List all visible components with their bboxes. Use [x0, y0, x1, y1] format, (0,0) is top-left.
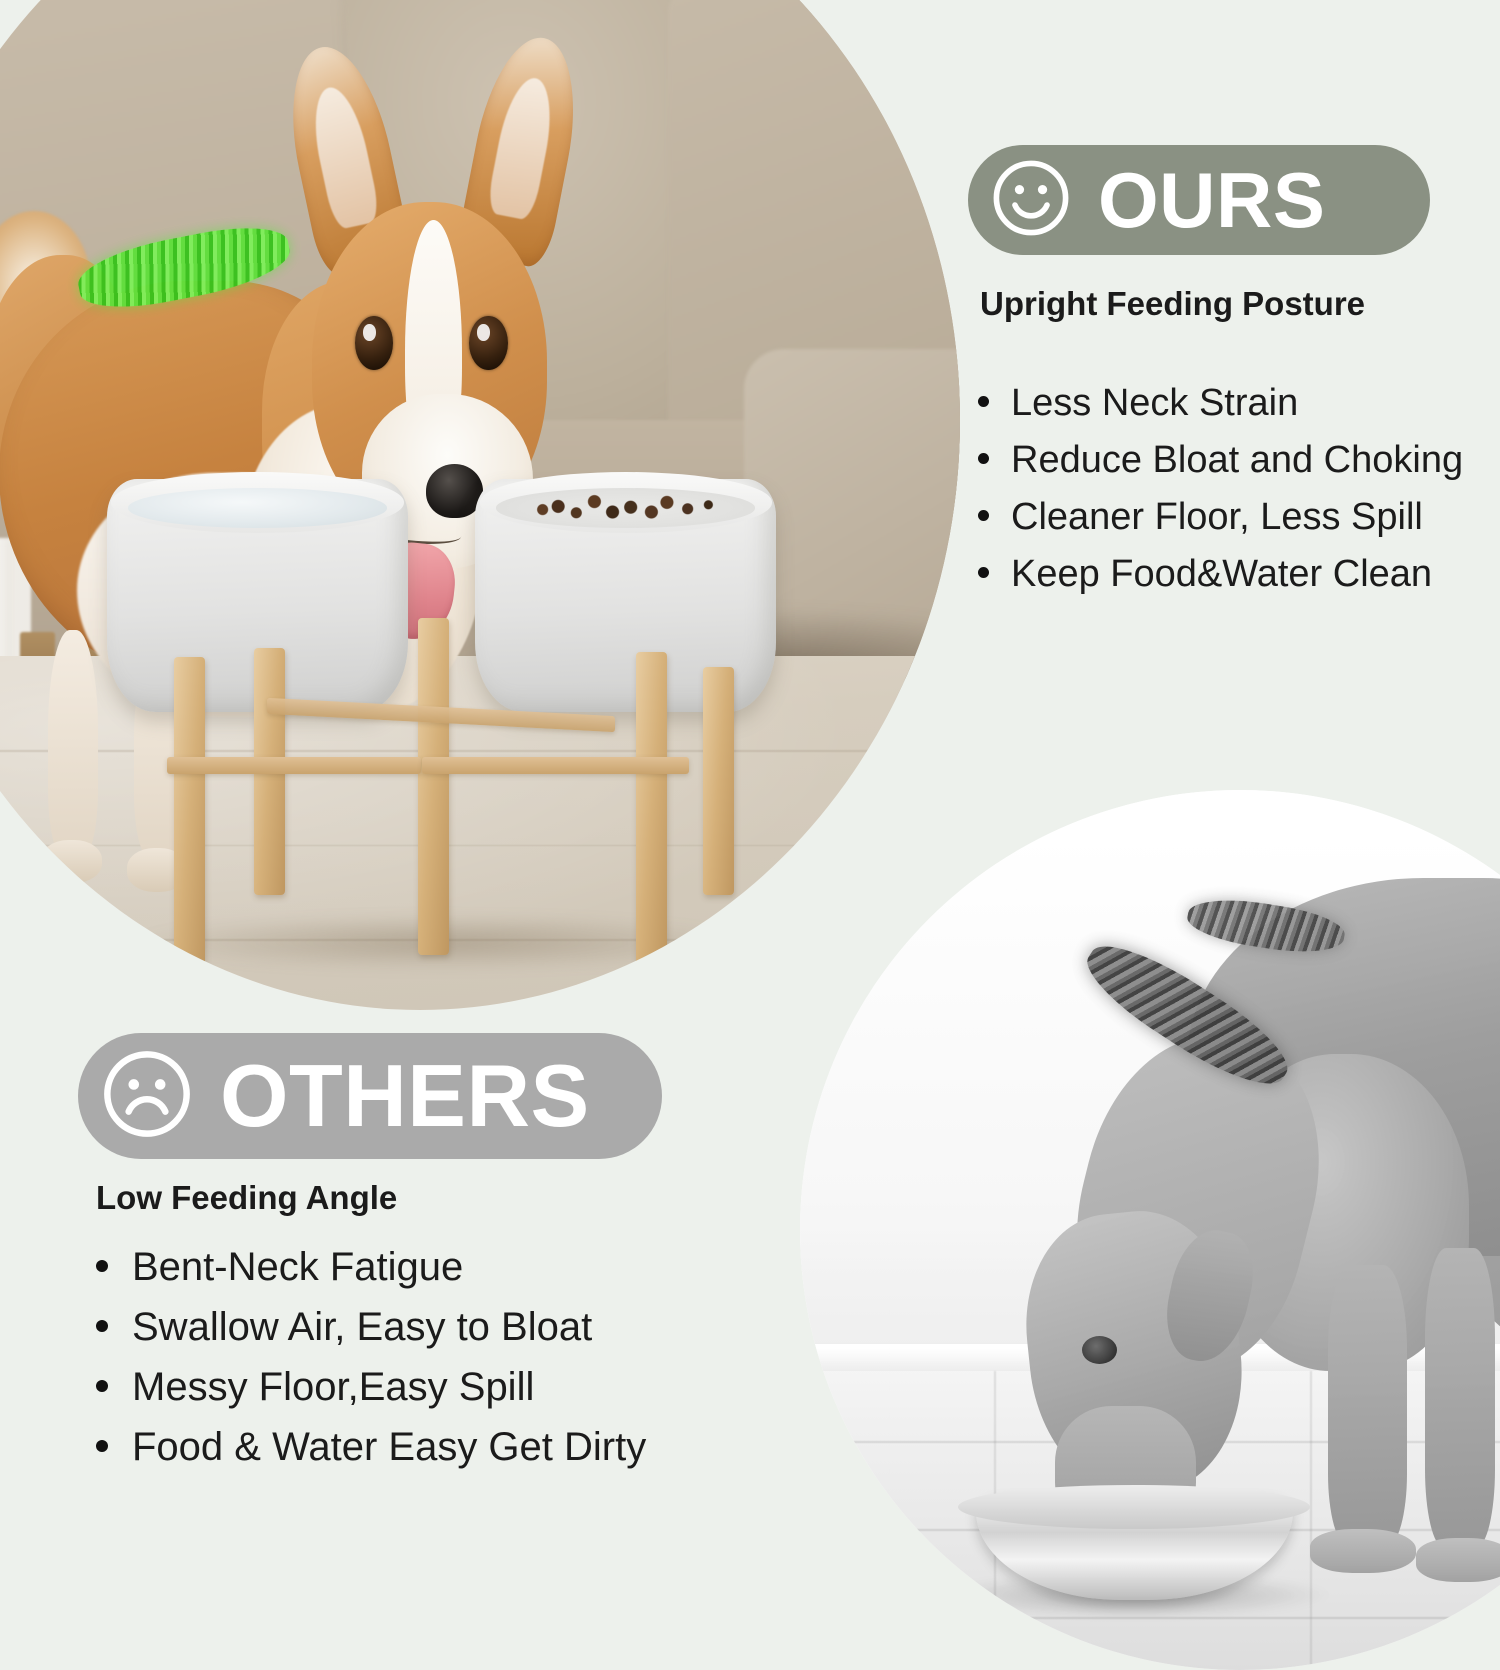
list-item-label: Swallow Air, Easy to Bloat	[132, 1305, 592, 1350]
list-item: Food & Water Easy Get Dirty	[96, 1425, 646, 1485]
smiley-face-icon	[990, 157, 1072, 244]
elevated-bowl-stand	[107, 479, 777, 975]
others-subheading: Low Feeding Angle	[96, 1179, 397, 1217]
others-drawback-list: Bent-Neck Fatigue Swallow Air, Easy to B…	[96, 1245, 646, 1485]
list-item: Less Neck Strain	[978, 382, 1463, 439]
list-item-label: Less Neck Strain	[1011, 382, 1298, 425]
list-item-label: Bent-Neck Fatigue	[132, 1245, 463, 1290]
dog-bent-over-floor-bowl-photo	[800, 790, 1500, 1670]
list-item: Messy Floor,Easy Spill	[96, 1365, 646, 1425]
dog-eye-left	[355, 316, 393, 370]
list-item: Bent-Neck Fatigue	[96, 1245, 646, 1305]
stand-leg	[636, 652, 667, 964]
list-item: Keep Food&Water Clean	[978, 553, 1463, 610]
frowning-face-icon	[100, 1047, 194, 1146]
dog-eye-right	[469, 316, 507, 370]
list-item-label: Food & Water Easy Get Dirty	[132, 1425, 646, 1470]
stand-leg	[703, 667, 734, 895]
ours-benefit-list: Less Neck Strain Reduce Bloat and Chokin…	[978, 382, 1463, 610]
list-item: Reduce Bloat and Choking	[978, 439, 1463, 496]
bullet-dot-icon	[96, 1380, 108, 1392]
stand-leg	[418, 618, 449, 955]
list-item: Swallow Air, Easy to Bloat	[96, 1305, 646, 1365]
bullet-dot-icon	[978, 453, 989, 464]
bullet-dot-icon	[978, 396, 989, 407]
others-badge: OTHERS	[78, 1033, 662, 1159]
bowl-water-contents	[128, 488, 387, 528]
list-item-label: Messy Floor,Easy Spill	[132, 1365, 534, 1410]
ours-subheading: Upright Feeding Posture	[980, 285, 1365, 323]
list-item-label: Reduce Bloat and Choking	[1011, 439, 1463, 482]
list-item-label: Keep Food&Water Clean	[1011, 553, 1432, 596]
ours-badge-label: OURS	[1098, 161, 1325, 239]
bullet-dot-icon	[96, 1440, 108, 1452]
bullet-dot-icon	[978, 510, 989, 521]
list-item: Cleaner Floor, Less Spill	[978, 496, 1463, 553]
bullet-dot-icon	[96, 1260, 108, 1272]
bullet-dot-icon	[96, 1320, 108, 1332]
bowl-food-contents	[496, 488, 755, 528]
stand-leg	[174, 657, 205, 974]
others-badge-label: OTHERS	[220, 1052, 590, 1140]
dog-eye	[1082, 1336, 1117, 1364]
ours-badge: OURS	[968, 145, 1430, 255]
list-item-label: Cleaner Floor, Less Spill	[1011, 496, 1423, 539]
bullet-dot-icon	[978, 567, 989, 578]
infographic-canvas: OURS Upright Feeding Posture Less Neck S…	[0, 0, 1500, 1500]
